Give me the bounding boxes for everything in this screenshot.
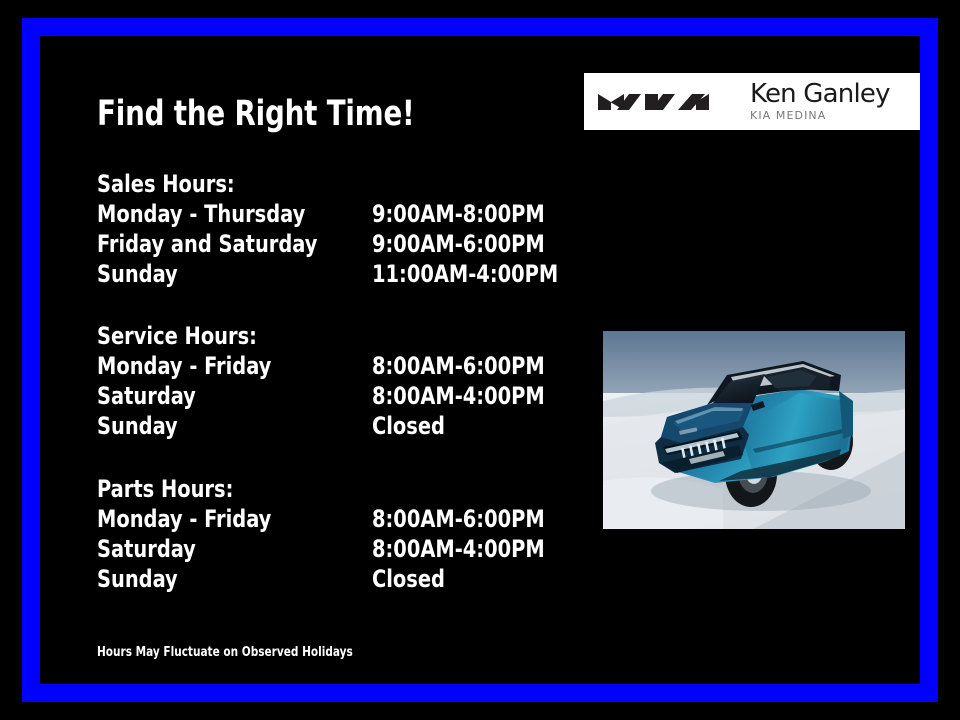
kia-ev9-suv-photo (603, 331, 905, 529)
day-label: Sunday (97, 564, 178, 594)
hours-block-parts: Parts Hours: Monday - Friday 8:00AM-6:00… (97, 474, 567, 594)
section-heading-parts: Parts Hours: (97, 474, 520, 504)
time-value: Closed (372, 411, 445, 441)
day-label: Saturday (97, 534, 196, 564)
hours-block-sales: Sales Hours: Monday - Thursday 9:00AM-8:… (97, 169, 567, 289)
time-value: Closed (372, 564, 445, 594)
footer-note: Hours May Fluctuate on Observed Holidays (97, 644, 353, 662)
time-value: 8:00AM-4:00PM (372, 534, 545, 564)
day-label: Sunday (97, 411, 178, 441)
section-heading-service: Service Hours: (97, 321, 520, 351)
kia-wordmark-icon (596, 87, 724, 117)
day-label: Friday and Saturday (97, 229, 317, 259)
time-value: 11:00AM-4:00PM (372, 259, 558, 289)
hours-row: Saturday 8:00AM-4:00PM (97, 534, 567, 564)
day-label: Monday - Friday (97, 504, 271, 534)
hours-row: Monday - Friday 8:00AM-6:00PM (97, 351, 567, 381)
time-value: 8:00AM-4:00PM (372, 381, 545, 411)
time-value: 9:00AM-6:00PM (372, 229, 545, 259)
page-title: Find the Right Time! (97, 94, 415, 134)
section-heading-sales: Sales Hours: (97, 169, 520, 199)
dealer-subtitle: KIA MEDINA (750, 109, 890, 123)
hours-row: Saturday 8:00AM-4:00PM (97, 381, 567, 411)
hours-row: Sunday 11:00AM-4:00PM (97, 259, 567, 289)
dealer-name-group: Ken Ganley KIA MEDINA (750, 81, 890, 123)
time-value: 9:00AM-8:00PM (372, 199, 545, 229)
hours-row: Sunday Closed (97, 564, 567, 594)
blue-border-frame: Find the Right Time! Ken Ganley KIA ME (22, 18, 938, 702)
day-label: Monday - Friday (97, 351, 271, 381)
dealer-name: Ken Ganley (750, 81, 890, 107)
time-value: 8:00AM-6:00PM (372, 504, 545, 534)
time-value: 8:00AM-6:00PM (372, 351, 545, 381)
day-label: Sunday (97, 259, 178, 289)
day-label: Saturday (97, 381, 196, 411)
hours-row: Friday and Saturday 9:00AM-6:00PM (97, 229, 567, 259)
slide-root: Find the Right Time! Ken Ganley KIA ME (0, 0, 960, 720)
day-label: Monday - Thursday (97, 199, 305, 229)
hours-block-service: Service Hours: Monday - Friday 8:00AM-6:… (97, 321, 567, 441)
hours-row: Monday - Thursday 9:00AM-8:00PM (97, 199, 567, 229)
dealer-logo-lockup: Ken Ganley KIA MEDINA (584, 73, 920, 130)
slide-content-area: Find the Right Time! Ken Ganley KIA ME (40, 36, 920, 684)
hours-row: Sunday Closed (97, 411, 567, 441)
hours-row: Monday - Friday 8:00AM-6:00PM (97, 504, 567, 534)
